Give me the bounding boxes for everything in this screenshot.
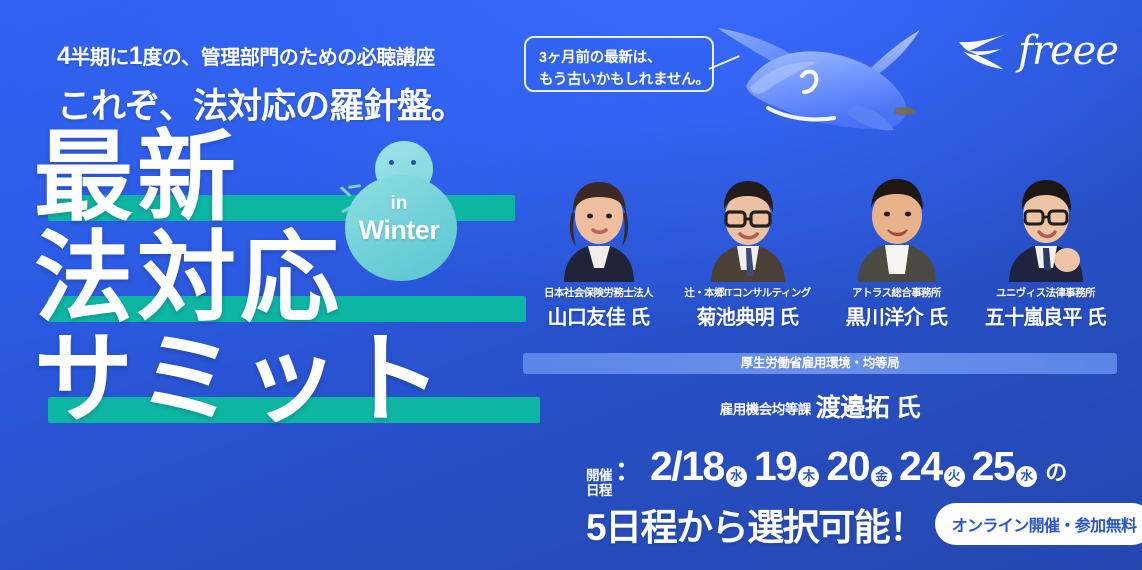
- title-line-3-text: サミット: [34, 328, 554, 429]
- kicker-part-1: 4: [57, 42, 70, 70]
- season-badge-line1: in: [331, 193, 467, 215]
- date-dow: 木: [798, 466, 819, 487]
- speaker-name: 黒川洋介 氏: [826, 301, 967, 330]
- dates-label-line1: 開催: [586, 468, 612, 483]
- page-title: 最新 法対応 サミット: [34, 126, 554, 429]
- speech-bubble-line1: 3ヶ月前の最新は、: [539, 47, 712, 69]
- freee-swallow-mark-icon: [957, 31, 1011, 71]
- title-line-1: 最新: [34, 126, 554, 227]
- speaker-name: 山口友佳 氏: [528, 301, 669, 330]
- speaker-card: ユニヴィス法律事務所 五十嵐良平 氏: [975, 164, 1116, 330]
- ministry-speaker: 雇用機会均等課渡邉拓 氏: [523, 388, 1117, 424]
- speaker-affiliation: ユニヴィス法律事務所: [975, 285, 1116, 300]
- freee-wordmark: freee: [1018, 31, 1118, 71]
- date-item: 2/18: [650, 443, 724, 490]
- snowman-eye-right: [411, 160, 416, 165]
- avatar: [677, 164, 818, 282]
- event-dates: 開催 日程 ： 2/18水 19木 20金 24火 25水 の: [586, 443, 1067, 498]
- speech-bubble-line2: もう古いかもしれません。: [539, 69, 712, 91]
- title-line-3: サミット: [34, 328, 554, 429]
- selection-text: 5日程から選択可能！: [586, 497, 925, 551]
- title-line-2: 法対応: [34, 227, 554, 328]
- freee-bird-mascot-icon: [706, 12, 956, 144]
- ministry-speaker-role: 雇用機会均等課: [720, 402, 811, 417]
- date-item: 25: [972, 443, 1015, 490]
- date-item: 20: [826, 443, 869, 490]
- date-dow: 火: [944, 466, 965, 487]
- date-dow: 水: [726, 466, 747, 487]
- ministry-bar: 厚生労働省雇用環境・均等局: [523, 353, 1117, 374]
- speaker-name: 五十嵐良平 氏: [975, 301, 1116, 330]
- dates-trailing: の: [1045, 455, 1067, 487]
- speech-bubble: 3ヶ月前の最新は、 もう古いかもしれません。: [524, 36, 714, 92]
- kicker-part-2: 半期に: [70, 47, 129, 69]
- footer-line: 5日程から選択可能！ オンライン開催・参加無料: [586, 497, 1142, 551]
- date-item: 19: [754, 443, 797, 490]
- season-badge-line2: Winter: [331, 215, 467, 247]
- snowman-icon: in Winter: [331, 141, 467, 281]
- date-dow: 水: [1016, 466, 1037, 487]
- avatar: [528, 164, 669, 282]
- ministry-speaker-name: 渡邉拓 氏: [816, 394, 920, 422]
- speaker-name: 菊池典明 氏: [677, 301, 818, 330]
- season-badge-label: in Winter: [331, 193, 467, 247]
- kicker-text: 4半期に1度の、管理部門のための必聴講座: [57, 41, 435, 71]
- speaker-card: 辻・本郷ITコンサルティング 菊池典明 氏: [677, 164, 818, 330]
- kicker-part-4: 度の、管理部門のための必聴講座: [142, 47, 435, 69]
- title-line-2-text: 法対応: [34, 227, 554, 328]
- speaker-affiliation: アトラス総合事務所: [826, 285, 967, 300]
- campaign-banner: 4半期に1度の、管理部門のための必聴講座 これぞ、法対応の羅針盤。 最新 法対応…: [0, 0, 1142, 570]
- date-dow: 金: [871, 466, 892, 487]
- speakers-list: 日本社会保険労務士法人 山口友佳 氏 辻・本郷ITコンサルティング 菊池典明 氏: [528, 164, 1118, 330]
- dates-label-line2: 日程: [586, 483, 612, 498]
- speaker-affiliation: 日本社会保険労務士法人: [528, 285, 669, 300]
- date-item: 24: [899, 443, 942, 490]
- speaker-affiliation: 辻・本郷ITコンサルティング: [677, 285, 818, 300]
- avatar: [826, 164, 967, 282]
- snowman-eye-left: [389, 160, 394, 165]
- avatar: [975, 164, 1116, 282]
- dates-label: 開催 日程: [586, 469, 614, 498]
- speaker-card: アトラス総合事務所 黒川洋介 氏: [826, 164, 967, 330]
- status-badge: オンライン開催・参加無料: [935, 503, 1142, 545]
- freee-logo: freee: [957, 28, 1118, 74]
- kicker-part-3: 1: [129, 42, 142, 70]
- title-line-1-text: 最新: [34, 126, 554, 227]
- speaker-card: 日本社会保険労務士法人 山口友佳 氏: [528, 164, 669, 330]
- dates-colon: ：: [615, 451, 641, 488]
